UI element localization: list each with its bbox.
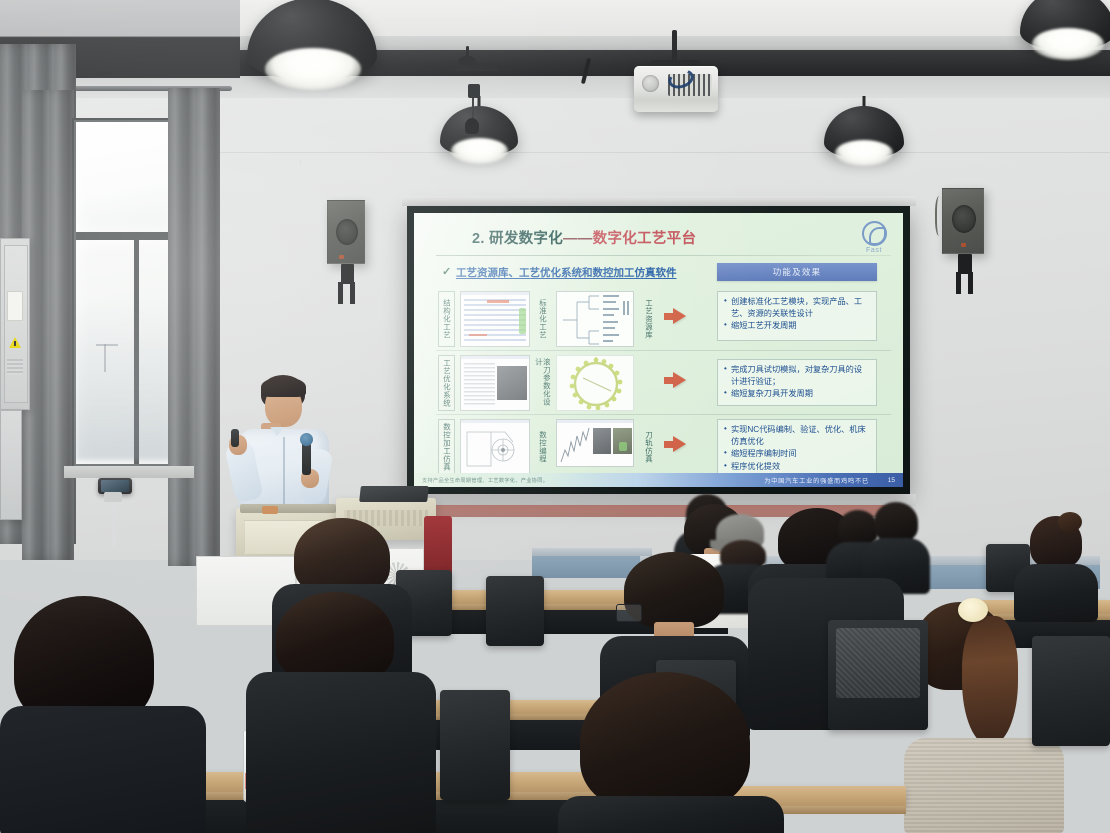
- hair: [580, 672, 750, 812]
- thumb-rows: [464, 363, 495, 407]
- presenter-clicker: [231, 429, 239, 447]
- presentation-slide: Fast 2. 研发数字化——数字化工艺平台 ✓ 工艺资源库、工艺优化系统和数控…: [414, 213, 903, 487]
- microphone-head: [300, 433, 313, 446]
- title-divider: [436, 255, 891, 256]
- curtain-panel-b: [168, 88, 220, 566]
- row3-bullets: 实现NC代码编制、验证、优化、机床仿真优化 缩短程序编制时间 程序优化提效: [717, 419, 877, 479]
- thumb-highlight: [519, 308, 526, 334]
- footer-left-text: 支持产品全生命周期管理、工艺数字化、产业协同。: [422, 477, 548, 484]
- row1-left-label: 结构化工艺: [438, 291, 455, 347]
- row2-left-label: 工艺优化系统: [438, 355, 455, 411]
- microphone: [302, 441, 311, 475]
- speaker-bracket-arm-d: [968, 272, 973, 294]
- company-logo: Fast: [857, 221, 891, 254]
- hair: [276, 592, 394, 684]
- red-chair: [424, 516, 452, 576]
- row3-bullet-1: 实现NC代码编制、验证、优化、机床仿真优化: [724, 424, 870, 447]
- torso: [558, 796, 784, 833]
- lamp-glow: [451, 138, 508, 164]
- audience-person-front-center: [556, 672, 786, 833]
- wall-speaker-left: [327, 200, 365, 264]
- row1-bullets: 创建标准化工艺模块，实现产品、工艺、资源的关联性设计 缩短工艺开发周期: [717, 291, 877, 341]
- audience-person-front-far-left: [0, 596, 210, 833]
- row1-arrow-tail: [664, 313, 673, 320]
- electrical-panel-lower: [0, 410, 22, 520]
- row2-bullet-2: 缩短复杂刀具开发周期: [724, 388, 870, 400]
- speaker-cone: [952, 205, 976, 233]
- row3-right-label: 刀轨仿真: [640, 425, 657, 469]
- chair-front-d[interactable]: [828, 620, 928, 730]
- warning-triangle-icon: [9, 337, 21, 348]
- console-laptop: [359, 486, 429, 502]
- row2-mid-label: 滚刀参数化设计: [534, 355, 551, 411]
- speaker-bracket-arm-c: [956, 272, 961, 294]
- function-header: 功能及效果: [717, 263, 877, 281]
- pendant-light-3: [824, 96, 904, 170]
- row3-thumb-a: [460, 419, 530, 475]
- row3-thumb-b: [556, 419, 634, 467]
- panel-label: [7, 291, 23, 321]
- speaker-bracket-left: [341, 264, 354, 284]
- window-pane-top: [76, 122, 178, 232]
- projection-screen: Fast 2. 研发数字化——数字化工艺平台 ✓ 工艺资源库、工艺优化系统和数控…: [407, 206, 910, 494]
- window-view-city: [76, 300, 176, 460]
- row3-arrow-icon: [673, 436, 686, 452]
- pendant-light-1: [247, 0, 377, 100]
- chair-front-b[interactable]: [440, 690, 510, 800]
- window-mullion-h: [76, 232, 178, 240]
- thumb-rows: [464, 299, 526, 343]
- hair-scrunchie: [958, 598, 988, 622]
- chair-mid-b[interactable]: [486, 576, 544, 646]
- phone-screen: [101, 480, 129, 492]
- row2-bullets: 完成刀具试切模拟，对复杂刀具的设计进行验证； 缩短复杂刀具开发周期: [717, 359, 877, 406]
- thumb-viewport: [497, 366, 527, 400]
- sim-view-a: [593, 428, 611, 454]
- row1-right-label: 工艺资源库: [640, 295, 657, 343]
- row3-mid-label: 数控编程: [534, 425, 551, 469]
- slide-subtitle: 工艺资源库、工艺优化系统和数控加工仿真软件: [456, 265, 677, 280]
- lamp-glow: [265, 48, 361, 90]
- slide-title: 2. 研发数字化——数字化工艺平台: [472, 227, 696, 248]
- row2-arrow-icon: [673, 372, 686, 388]
- row3-arrow-tail: [664, 441, 673, 448]
- classroom-photo: Fast 2. 研发数字化——数字化工艺平台 ✓ 工艺资源库、工艺优化系统和数控…: [0, 0, 1110, 833]
- panel-vent: [7, 359, 23, 375]
- lamp-glow: [1032, 28, 1104, 60]
- row2-thumb-b: [556, 355, 634, 411]
- eyeglasses: [616, 604, 642, 622]
- row1-thumb-b: [556, 291, 634, 347]
- tree-diagram-icon: [557, 292, 634, 347]
- wall-speaker-right: [942, 188, 984, 254]
- sim-highlight: [619, 442, 627, 451]
- gear-hob-icon: [557, 356, 634, 411]
- presenter-hair-top: [261, 377, 306, 397]
- speaker-bracket-right: [958, 254, 972, 274]
- row3-left-label: 数控加工仿真: [438, 419, 455, 475]
- thumb-accent: [469, 334, 487, 336]
- slide-title-dash: ——: [563, 231, 593, 247]
- beam-fixture-arm: [455, 66, 499, 71]
- row1-mid-label: 标准化工艺: [534, 295, 551, 343]
- chair-mesh: [836, 628, 920, 698]
- thumb-accent: [487, 300, 509, 303]
- speaker-cone: [336, 219, 358, 245]
- speaker-cable: [935, 196, 945, 236]
- crane-boom: [96, 344, 118, 346]
- window-sill: [64, 466, 194, 478]
- row1-thumb-a: [460, 291, 530, 347]
- row3-bullet-2: 缩短程序编制时间: [724, 448, 870, 460]
- check-icon: ✓: [442, 265, 451, 278]
- speaker-indicator: [339, 255, 344, 259]
- slide-footer: 支持产品全生命周期管理、工艺数字化、产业协同。 为中国汽车工业的强盛而鸡鸣不已 …: [414, 473, 903, 487]
- speaker-indicator: [961, 243, 966, 247]
- row2-arrow-tail: [664, 377, 673, 384]
- hanging-sensor: [465, 118, 479, 134]
- screen-surface: Fast 2. 研发数字化——数字化工艺平台 ✓ 工艺资源库、工艺优化系统和数控…: [414, 213, 903, 487]
- presenter-collar: [270, 427, 284, 436]
- logo-mark-icon: [862, 221, 887, 246]
- podium-top-edge: [240, 504, 336, 513]
- slide-title-part2: 数字化工艺平台: [593, 231, 697, 247]
- tripod-head: [104, 492, 122, 502]
- speaker-bracket-arm-b: [350, 282, 355, 304]
- torso: [0, 706, 206, 833]
- hair: [874, 502, 918, 542]
- hair-bun: [1058, 512, 1082, 532]
- speaker-bracket-arm-a: [338, 282, 343, 304]
- screen-top-trim: [402, 196, 916, 206]
- slide-title-part1: 2. 研发数字化: [472, 231, 563, 247]
- slide-page-number: 15: [888, 477, 895, 484]
- cad-part-icon: [461, 420, 530, 475]
- podium-item: [262, 506, 278, 514]
- hanging-wire: [472, 98, 474, 120]
- row2-bullet-1: 完成刀具试切模拟，对复杂刀具的设计进行验证；: [724, 364, 870, 387]
- torso: [246, 672, 436, 833]
- row3-bullet-3: 程序优化提效: [724, 461, 870, 473]
- audience-person-front-left: [246, 592, 436, 833]
- row1-bullet-2: 缩短工艺开发周期: [724, 320, 870, 332]
- crane-mast: [104, 344, 106, 372]
- ponytail: [962, 616, 1018, 746]
- logo-text: Fast: [857, 247, 891, 254]
- pendant-light-2: [440, 96, 518, 168]
- pendant-light-4: [1020, 0, 1110, 80]
- row1-bullet-1: 创建标准化工艺模块，实现产品、工艺、资源的关联性设计: [724, 296, 870, 319]
- electrical-panel: [0, 238, 30, 410]
- lamp-glow: [835, 140, 893, 166]
- panel-door: [4, 245, 28, 403]
- torso: [904, 738, 1064, 833]
- beam-clamp: [468, 84, 480, 98]
- row1-arrow-icon: [673, 308, 686, 324]
- projector-pole: [672, 30, 677, 64]
- footer-right-text: 为中国汽车工业的强盛而鸡鸣不已: [764, 476, 869, 485]
- chair-front-e[interactable]: [1032, 636, 1110, 746]
- row2-thumb-a: [460, 355, 530, 411]
